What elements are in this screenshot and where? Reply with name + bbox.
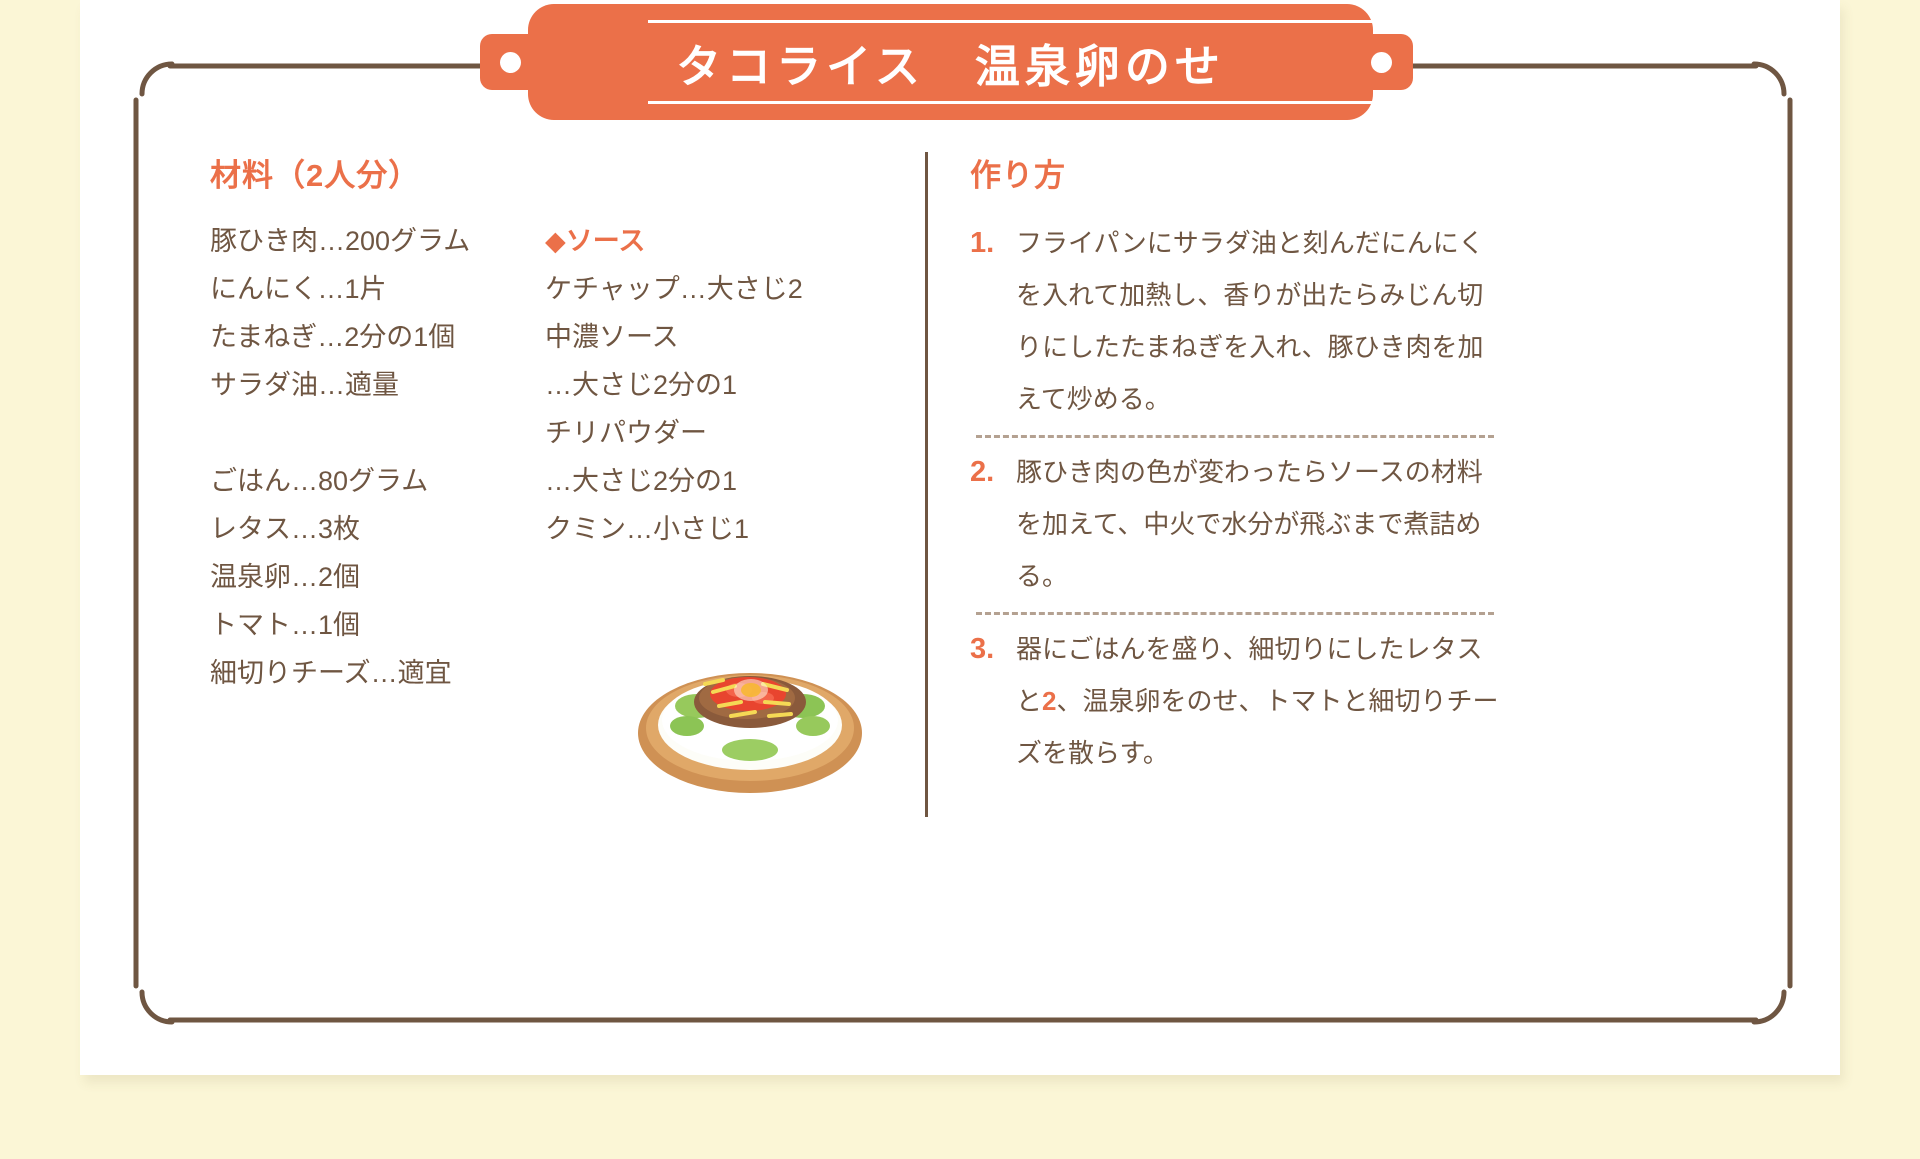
step-text: 器にごはんを盛り、細切りにしたレタスと2、温泉卵をのせ、トマトと細切りチーズを散… [1016,623,1500,779]
step-number: 3. [970,623,1016,675]
sauce-subheading: ◆ソース [545,217,880,265]
step-separator [976,435,1494,438]
ingredient-item: サラダ油…適量 [210,361,545,409]
step-item: 2. 豚ひき肉の色が変わったらソースの材料を加えて、中火で水分が飛ぶまで煮詰める… [970,446,1500,604]
step-text: フライパンにサラダ油と刻んだにんにくを入れて加熱し、香りが出たらみじん切りにした… [1016,217,1500,425]
sauce-item: チリパウダー [545,409,880,457]
ingredient-column-main: 豚ひき肉…200グラム にんにく…1片 たまねぎ…2分の1個 サラダ油…適量 ご… [210,217,545,697]
step-reference: 2 [1042,686,1056,716]
ingredient-item: レタス…3枚 [210,505,545,553]
ingredient-item: トマト…1個 [210,601,545,649]
step-number: 2. [970,446,1016,498]
ingredient-item: ごはん…80グラム [210,457,545,505]
ingredient-item: 豚ひき肉…200グラム [210,217,545,265]
step-item: 3. 器にごはんを盛り、細切りにしたレタスと2、温泉卵をのせ、トマトと細切りチー… [970,623,1500,781]
banner-hole-left [500,52,521,73]
ingredient-item: 細切りチーズ…適宜 [210,649,545,697]
sauce-item: クミン…小さじ1 [545,505,880,553]
ingredient-item: たまねぎ…2分の1個 [210,313,545,361]
step-number: 1. [970,217,1016,269]
step-text: 豚ひき肉の色が変わったらソースの材料を加えて、中火で水分が飛ぶまで煮詰める。 [1016,446,1500,602]
ingredient-item: 温泉卵…2個 [210,553,545,601]
recipe-card: タコライス 温泉卵のせ 材料（2人分） 豚ひき肉…200グラム にんにく…1片 … [80,0,1840,1075]
ingredient-spacer [210,409,545,457]
ingredient-columns: 豚ひき肉…200グラム にんにく…1片 たまねぎ…2分の1個 サラダ油…適量 ご… [210,217,925,697]
ingredients-section: 材料（2人分） 豚ひき肉…200グラム にんにく…1片 たまねぎ…2分の1個 サ… [210,150,925,970]
ingredient-item: にんにく…1片 [210,265,545,313]
step-item: 1. フライパンにサラダ油と刻んだにんにくを入れて加熱し、香りが出たらみじん切り… [970,217,1500,427]
step-separator [976,612,1494,615]
steps-heading: 作り方 [970,150,1500,195]
ingredients-heading: 材料（2人分） [210,150,925,195]
sauce-item: …大さじ2分の1 [545,361,880,409]
banner-hole-right [1371,52,1392,73]
sauce-item: …大さじ2分の1 [545,457,880,505]
title-banner: タコライス 温泉卵のせ [438,4,1283,120]
steps-section: 作り方 1. フライパンにサラダ油と刻んだにんにくを入れて加熱し、香りが出たらみ… [970,150,1500,781]
taco-rice-dish-illustration [635,640,865,800]
step-text-after: 、温泉卵をのせ、トマトと細切りチーズを散らす。 [1016,686,1499,768]
sauce-item: 中濃ソース [545,313,880,361]
page-title: タコライス 温泉卵のせ [528,4,1373,120]
recipe-content: 材料（2人分） 豚ひき肉…200グラム にんにく…1片 たまねぎ…2分の1個 サ… [210,150,1750,970]
sauce-item: ケチャップ…大さじ2 [545,265,880,313]
column-divider [925,152,928,817]
ingredient-column-sauce: ◆ソース ケチャップ…大さじ2 中濃ソース …大さじ2分の1 チリパウダー …大… [545,217,880,697]
